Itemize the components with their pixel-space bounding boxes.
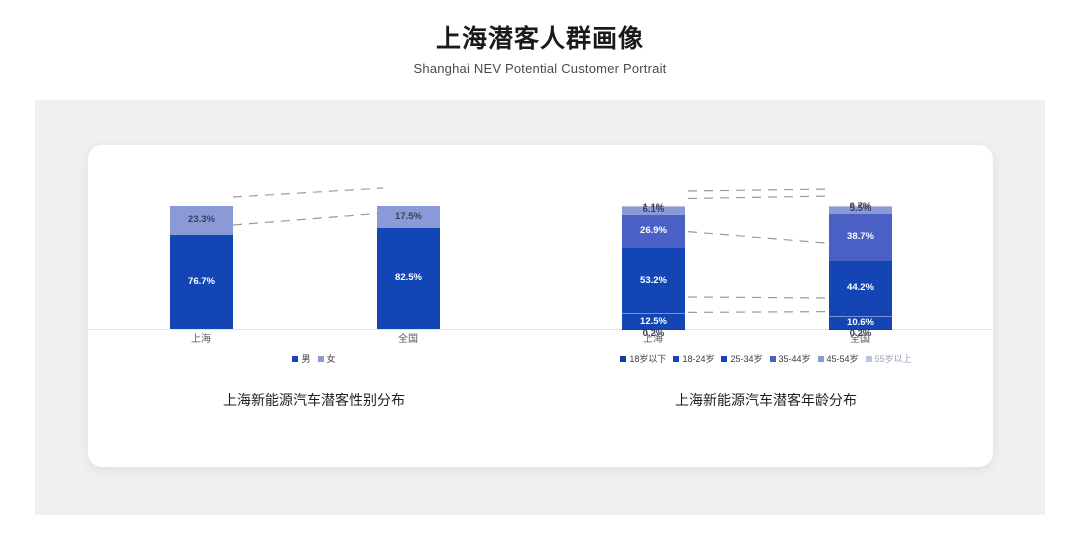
legend-item-45-54[interactable]: 45-54岁	[818, 353, 859, 365]
gender-seg-male-shanghai[interactable]: 76.7%	[170, 235, 233, 329]
charts-row: 23.3% 76.7% 17.5% 82.5	[88, 145, 993, 467]
legend-swatch-icon	[770, 356, 776, 362]
gender-seg-female-national[interactable]: 17.5%	[377, 206, 440, 228]
age-seg-45-54-shanghai[interactable]: 6.1%	[622, 207, 685, 215]
gender-axis-line	[88, 329, 540, 330]
gender-legend: 男 女	[88, 353, 540, 365]
age-bar-national[interactable]: 0.7% 5.5% 38.7% 44.2%	[829, 206, 892, 329]
age-seg-label: 5.5%	[850, 204, 872, 214]
age-legend: 18岁以下 18-24岁 25-34岁 35-44岁	[540, 353, 992, 365]
gender-x-axis-labels: 上海 全国	[88, 333, 540, 349]
gender-seg-label: 23.3%	[188, 215, 215, 225]
legend-label: 35-44岁	[779, 353, 811, 365]
legend-item-female[interactable]: 女	[318, 353, 336, 365]
age-seg-35-44-shanghai[interactable]: 26.9%	[622, 215, 685, 248]
slide-page: 上海潜客人群画像 Shanghai NEV Potential Customer…	[0, 0, 1080, 547]
content-panel: 23.3% 76.7% 17.5% 82.5	[35, 100, 1045, 515]
age-seg-35-44-national[interactable]: 38.7%	[829, 214, 892, 262]
age-bar-shanghai[interactable]: 1.1% 6.1% 26.9% 53.2%	[622, 206, 685, 329]
legend-item-55plus[interactable]: 55岁以上	[866, 353, 912, 365]
age-seg-18-24-shanghai[interactable]: 12.5%	[622, 313, 685, 328]
legend-swatch-icon	[721, 356, 727, 362]
legend-item-18-24[interactable]: 18-24岁	[673, 353, 714, 365]
age-seg-label: 38.7%	[847, 232, 874, 242]
legend-label: 45-54岁	[827, 353, 859, 365]
legend-swatch-icon	[620, 356, 626, 362]
gender-seg-label: 17.5%	[395, 212, 422, 222]
legend-label: 女	[327, 353, 336, 365]
age-xtick-shanghai: 上海	[608, 333, 698, 347]
age-xtick-national: 全国	[815, 333, 905, 347]
legend-item-male[interactable]: 男	[292, 353, 310, 365]
gender-seg-label: 82.5%	[395, 273, 422, 283]
age-connector-lines	[540, 185, 992, 330]
age-seg-label: 6.1%	[643, 205, 665, 215]
gender-chart-caption: 上海新能源汽车潜客性别分布	[88, 390, 540, 410]
age-plot-area: 1.1% 6.1% 26.9% 53.2%	[540, 185, 992, 330]
gender-bar-shanghai[interactable]: 23.3% 76.7%	[170, 206, 233, 329]
legend-swatch-icon	[292, 356, 298, 362]
age-axis-line	[540, 329, 992, 330]
age-seg-45-54-national[interactable]: 5.5%	[829, 207, 892, 214]
legend-swatch-icon	[866, 356, 872, 362]
age-seg-label: 44.2%	[847, 283, 874, 293]
age-chart-caption: 上海新能源汽车潜客年龄分布	[540, 390, 992, 410]
legend-label: 男	[301, 353, 310, 365]
legend-swatch-icon	[818, 356, 824, 362]
age-chart: 1.1% 6.1% 26.9% 53.2%	[540, 145, 992, 467]
charts-card: 23.3% 76.7% 17.5% 82.5	[88, 145, 993, 467]
gender-xtick-national: 全国	[363, 333, 453, 347]
age-seg-label: 53.2%	[640, 276, 667, 286]
age-seg-25-34-national[interactable]: 44.2%	[829, 261, 892, 315]
gender-seg-female-shanghai[interactable]: 23.3%	[170, 206, 233, 235]
page-header: 上海潜客人群画像 Shanghai NEV Potential Customer…	[0, 22, 1080, 79]
page-subtitle: Shanghai NEV Potential Customer Portrait	[0, 59, 1080, 79]
age-seg-label: 10.6%	[847, 318, 874, 328]
age-seg-25-34-shanghai[interactable]: 53.2%	[622, 248, 685, 313]
legend-swatch-icon	[673, 356, 679, 362]
gender-seg-male-national[interactable]: 82.5%	[377, 228, 440, 329]
gender-chart: 23.3% 76.7% 17.5% 82.5	[88, 145, 540, 467]
gender-xtick-shanghai: 上海	[156, 333, 246, 347]
gender-bar-national[interactable]: 17.5% 82.5%	[377, 206, 440, 329]
age-seg-label: 12.5%	[640, 317, 667, 327]
legend-item-25-34[interactable]: 25-34岁	[721, 353, 762, 365]
gender-connector-lines	[88, 185, 540, 330]
age-seg-label: 26.9%	[640, 226, 667, 236]
gender-seg-label: 76.7%	[188, 277, 215, 287]
legend-label: 18-24岁	[682, 353, 714, 365]
legend-item-under18[interactable]: 18岁以下	[620, 353, 666, 365]
legend-item-35-44[interactable]: 35-44岁	[770, 353, 811, 365]
legend-label: 18岁以下	[629, 353, 666, 365]
legend-label: 25-34岁	[730, 353, 762, 365]
age-x-axis-labels: 上海 全国	[540, 333, 992, 349]
legend-swatch-icon	[318, 356, 324, 362]
gender-plot-area: 23.3% 76.7% 17.5% 82.5	[88, 185, 540, 330]
legend-label: 55岁以上	[875, 353, 912, 365]
page-title: 上海潜客人群画像	[0, 22, 1080, 56]
